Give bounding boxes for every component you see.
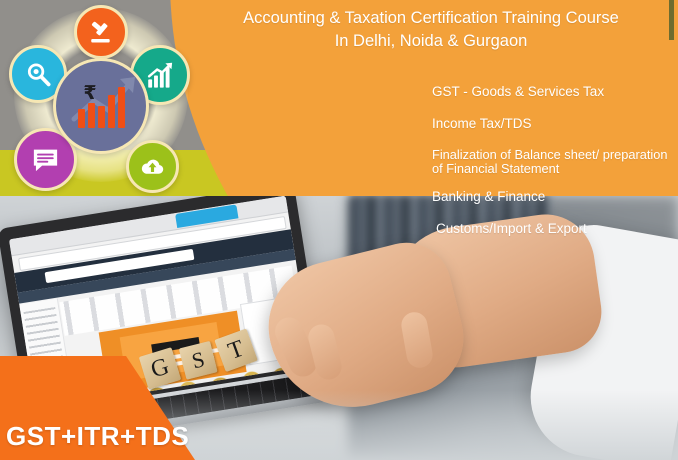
list-item: Finalization of Balance sheet/ preparati… xyxy=(432,148,678,175)
training-course-banner: G S T GST+ITR+TDS Accounting & Taxation … xyxy=(0,0,678,460)
svg-text:₹: ₹ xyxy=(83,82,96,104)
headline-line-2: In Delhi, Noida & Gurgaon xyxy=(196,30,666,53)
list-item: GST - Goods & Services Tax xyxy=(432,84,678,100)
rupee-growth-chart-icon: ₹ xyxy=(53,58,149,154)
headline-line-1: Accounting & Taxation Certification Trai… xyxy=(243,9,619,27)
list-item: Customs/Import & Export xyxy=(432,221,678,237)
page-title: Accounting & Taxation Certification Trai… xyxy=(196,7,666,53)
gst-itr-tds-badge: GST+ITR+TDS xyxy=(6,421,189,452)
icon-cluster: ₹ xyxy=(0,0,200,200)
list-item: Income Tax/TDS xyxy=(432,116,678,132)
list-item: Banking & Finance xyxy=(432,189,678,205)
gavel-icon xyxy=(74,5,128,59)
course-module-list: GST - Goods & Services Tax Income Tax/TD… xyxy=(432,84,678,253)
